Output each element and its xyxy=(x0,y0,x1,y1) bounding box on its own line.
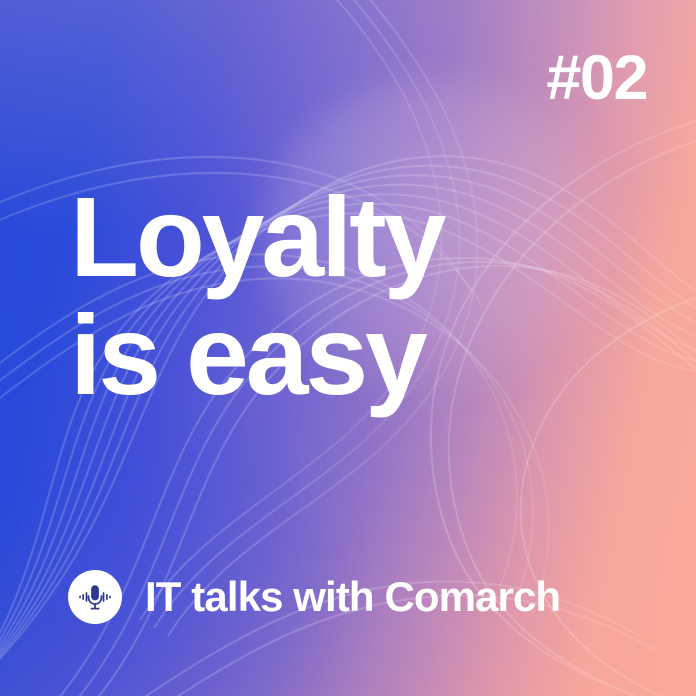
podcast-cover-art: #02 Loyalty is easy IT talks with Comarc… xyxy=(0,0,696,696)
podcast-branding: IT talks with Comarch xyxy=(68,570,560,624)
episode-title-line-2: is easy xyxy=(70,300,630,411)
episode-title-line-1: Loyalty xyxy=(70,182,630,293)
microphone-icon xyxy=(75,577,115,617)
podcast-logo-badge xyxy=(68,570,122,624)
episode-number: #02 xyxy=(546,47,647,110)
podcast-name: IT talks with Comarch xyxy=(145,576,560,618)
episode-title: Loyalty is easy xyxy=(70,182,630,410)
